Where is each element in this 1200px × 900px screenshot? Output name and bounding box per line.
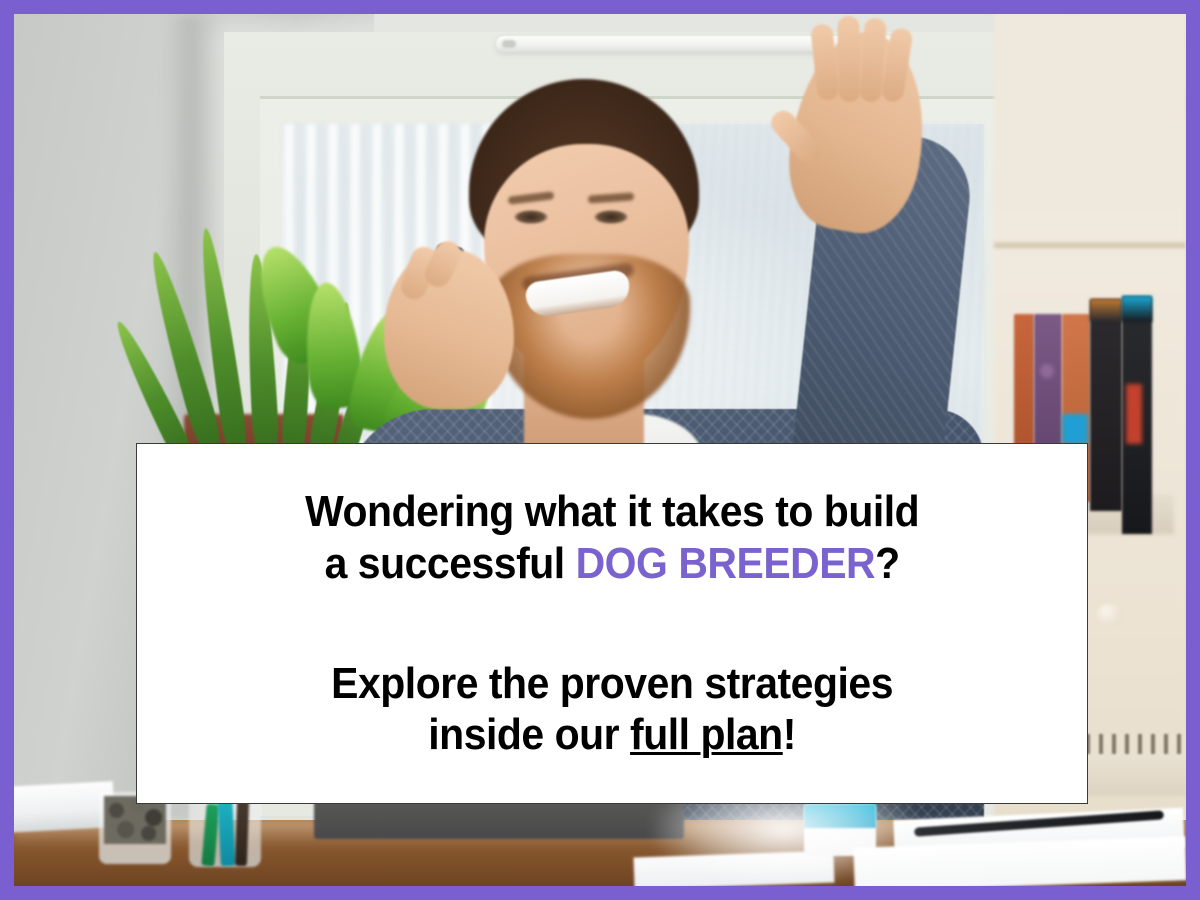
subline-suffix: ! (783, 710, 796, 759)
full-plan-link[interactable]: full plan (630, 710, 783, 759)
subline: Explore the proven strategies inside our… (331, 658, 893, 762)
message-card: Wondering what it takes to build a succe… (136, 443, 1088, 804)
subline-line-2: inside our full plan! (331, 709, 893, 761)
subline-line-1: Explore the proven strategies (331, 658, 893, 710)
book-spine (1090, 299, 1122, 511)
wall-trim (994, 242, 1186, 248)
wall-knob (1096, 604, 1122, 624)
radiator-body (1086, 754, 1186, 796)
radiator-fins (1086, 734, 1186, 756)
pen (235, 800, 249, 866)
headline-accent-dog-breeder: DOG BREEDER (575, 539, 875, 588)
headline-line-1: Wondering what it takes to build (305, 486, 919, 538)
slide-frame: Wondering what it takes to build a succe… (0, 0, 1200, 900)
finger (837, 16, 860, 102)
headline: Wondering what it takes to build a succe… (305, 486, 919, 590)
headline-prefix: a successful (324, 539, 575, 588)
background-photo: Wondering what it takes to build a succe… (14, 14, 1186, 886)
headline-suffix: ? (875, 539, 900, 588)
book-spine-detail (1090, 299, 1122, 321)
blind-bar-cap (502, 40, 516, 48)
book-spine-detail (1126, 384, 1142, 444)
book-spine-detail (1062, 414, 1088, 444)
headline-line-2: a successful DOG BREEDER? (305, 538, 919, 590)
book-spine-detail (1040, 364, 1054, 378)
eye (594, 210, 628, 224)
eye (514, 210, 548, 224)
subline-prefix: inside our (428, 710, 630, 759)
book-spine-detail (1122, 296, 1152, 322)
